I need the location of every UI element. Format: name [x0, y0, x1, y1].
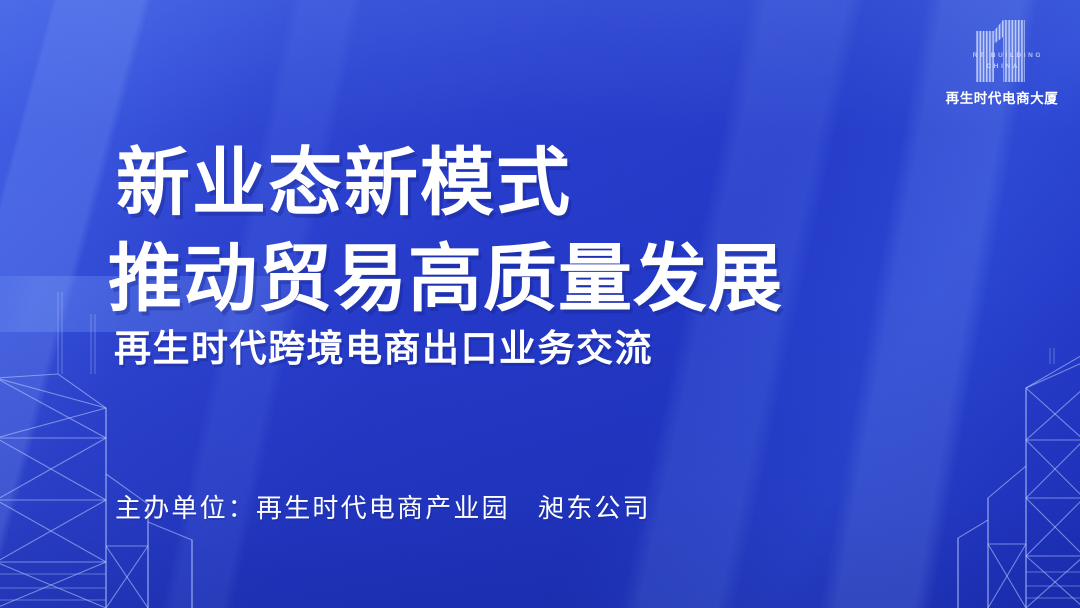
title-line-2: 推动贸易高质量发展 [108, 238, 968, 320]
logo-latin-line-2: CHINA [970, 61, 1034, 72]
logo-chinese-name: 再生时代电商大厦 [938, 87, 1066, 107]
organizer-line: 主办单位：再生时代电商产业园 昶东公司 [115, 490, 651, 526]
skyline-tower-right [954, 348, 1080, 608]
logo[interactable]: RT BUILDING CHINA 再生时代电商大厦 [938, 20, 1066, 107]
title-line-1: 新业态新模式 [116, 142, 968, 224]
logo-latin-text: RT BUILDING CHINA [970, 50, 1034, 72]
headline-block: 新业态新模式 推动贸易高质量发展 再生时代跨境电商出口业务交流 [108, 142, 968, 372]
poster-canvas: RT BUILDING CHINA 再生时代电商大厦 新业态新模式 推动贸易高质… [0, 0, 1080, 608]
logo-latin-line-1: RT BUILDING [970, 50, 1034, 61]
subtitle: 再生时代跨境电商出口业务交流 [114, 326, 968, 372]
rt-building-tower-icon: RT BUILDING CHINA [970, 20, 1034, 82]
